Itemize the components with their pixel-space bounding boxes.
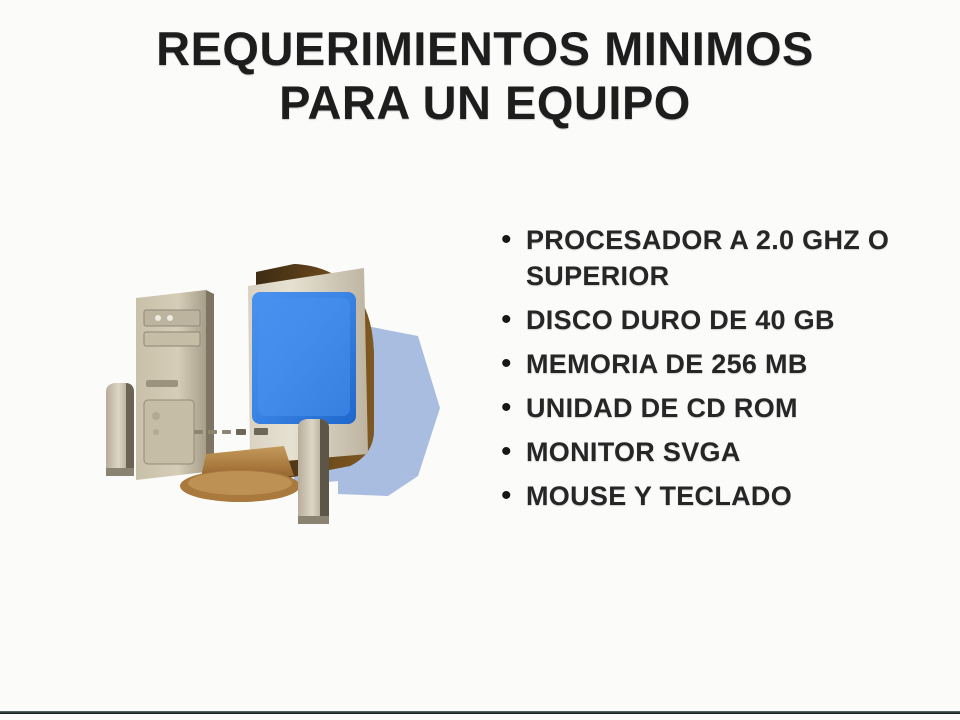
slide-canvas: REQUERIMIENTOS MINIMOS PARA UN EQUIPO [0, 0, 960, 720]
bullet-icon: • [496, 434, 526, 470]
title-line-1: REQUERIMIENTOS MINIMOS [10, 22, 960, 76]
list-item: • MEMORIA DE 256 MB [496, 346, 926, 382]
requirement-text: PROCESADOR A 2.0 GHZ O SUPERIOR [526, 222, 926, 294]
bullet-icon: • [496, 346, 526, 382]
requirement-text: DISCO DURO DE 40 GB [526, 302, 926, 338]
left-speaker-icon [106, 383, 134, 476]
list-item: • MONITOR SVGA [496, 434, 926, 470]
bullet-icon: • [496, 390, 526, 426]
right-speaker-icon [298, 419, 329, 524]
requirements-list: • PROCESADOR A 2.0 GHZ O SUPERIOR • DISC… [496, 222, 926, 522]
requirement-text: UNIDAD DE CD ROM [526, 390, 926, 426]
requirement-text: MEMORIA DE 256 MB [526, 346, 926, 382]
title-line-2: PARA UN EQUIPO [10, 76, 960, 130]
requirement-text: MONITOR SVGA [526, 434, 926, 470]
desktop-computer-illustration [88, 240, 468, 540]
bullet-icon: • [496, 222, 526, 258]
list-item: • PROCESADOR A 2.0 GHZ O SUPERIOR [496, 222, 926, 294]
bullet-icon: • [496, 302, 526, 338]
list-item: • MOUSE Y TECLADO [496, 478, 926, 514]
bottom-divider [0, 711, 960, 714]
list-item: • DISCO DURO DE 40 GB [496, 302, 926, 338]
tower-case-icon [136, 290, 214, 480]
bullet-icon: • [496, 478, 526, 514]
crt-monitor-icon [194, 264, 374, 478]
list-item: • UNIDAD DE CD ROM [496, 390, 926, 426]
requirement-text: MOUSE Y TECLADO [526, 478, 926, 514]
page-title: REQUERIMIENTOS MINIMOS PARA UN EQUIPO [0, 22, 960, 130]
